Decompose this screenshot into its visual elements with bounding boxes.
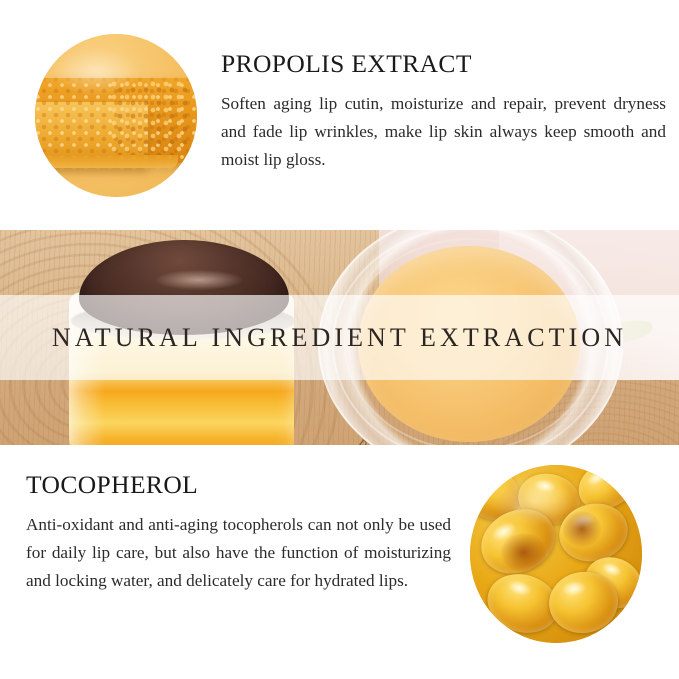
propolis-body-text: Soften aging lip cutin, moisturize and r… <box>221 90 666 174</box>
tocopherol-heading: TOCOPHEROL <box>26 471 451 499</box>
honeycomb-image <box>35 34 197 197</box>
tocopherol-section: TOCOPHEROL Anti-oxidant and anti-aging t… <box>0 445 679 679</box>
honeycomb-highlight <box>51 47 140 96</box>
tocopherol-body-text: Anti-oxidant and anti-aging tocopherols … <box>26 511 451 595</box>
softgel-capsules-image <box>470 465 642 643</box>
propolis-text-block: PROPOLIS EXTRACT Soften aging lip cutin,… <box>221 50 666 174</box>
tocopherol-text-block: TOCOPHEROL Anti-oxidant and anti-aging t… <box>26 471 451 595</box>
product-ingredient-infographic: PROPOLIS EXTRACT Soften aging lip cutin,… <box>0 0 679 679</box>
honeycomb-base <box>41 155 177 168</box>
capsule-shadow <box>501 533 546 572</box>
banner-section: Prop NATURAL INGREDIENT EXTRACTION <box>0 230 679 445</box>
jar-lid-gloss <box>155 270 243 290</box>
propolis-section: PROPOLIS EXTRACT Soften aging lip cutin,… <box>0 0 679 230</box>
capsules-highlight <box>491 476 577 526</box>
banner-title: NATURAL INGREDIENT EXTRACTION <box>0 295 679 380</box>
capsule-shadow <box>563 511 601 547</box>
propolis-heading: PROPOLIS EXTRACT <box>221 50 666 78</box>
